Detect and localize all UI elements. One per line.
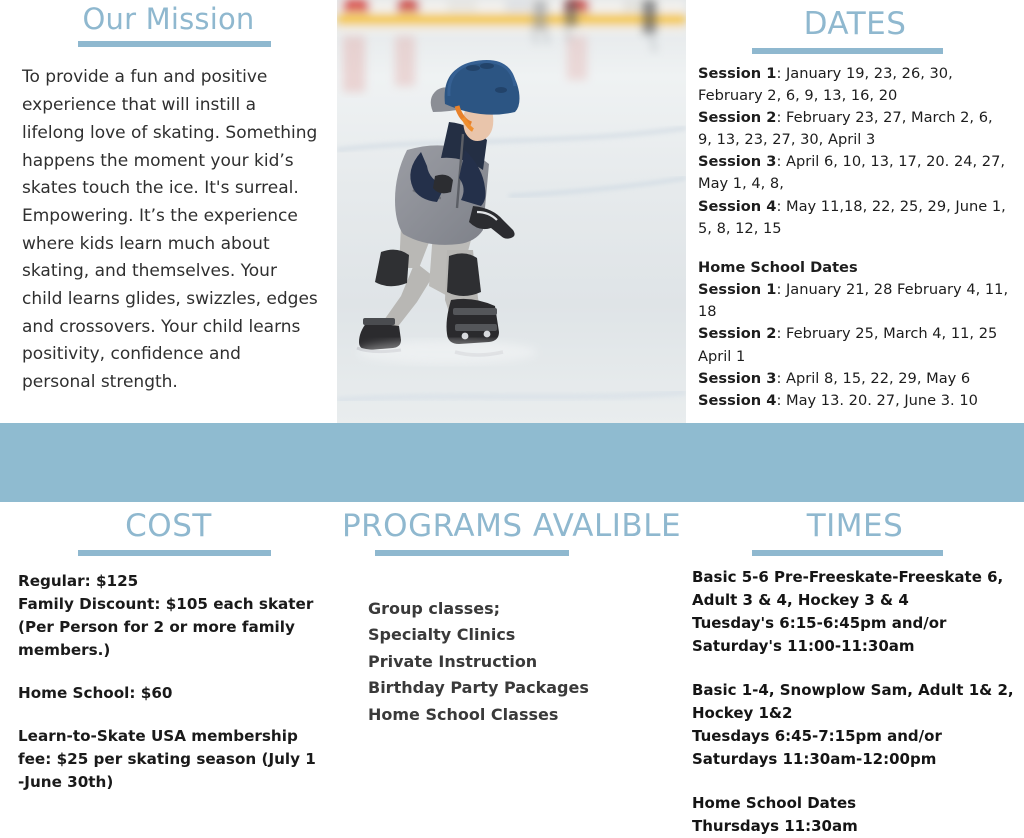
home-school-session-row: Session 1: January 21, 28 February 4, 11…	[698, 279, 1010, 323]
dates-session-row: Session 4: May 11,18, 22, 25, 29, June 1…	[698, 196, 1010, 240]
cost-body: Regular: $125 Family Discount: $105 each…	[18, 570, 325, 795]
programs-section: PROGRAMS AVALIBLE Group classes; Special…	[337, 502, 686, 791]
session-value: May 13. 20. 27, June 3. 10	[781, 392, 978, 409]
dates-session-row: Session 1: January 19, 23, 26, 30, Febru…	[698, 63, 1010, 107]
home-school-session-row: Session 4: May 13. 20. 27, June 3. 10	[698, 390, 1010, 412]
times-heading-wrap: TIMES	[686, 502, 1024, 543]
times-line: Thursdays 11:30am	[692, 815, 1018, 838]
cost-spacer	[18, 705, 325, 725]
list-item: Specialty Clinics	[368, 622, 676, 649]
times-heading-rule	[752, 550, 943, 556]
mission-body-text: To provide a fun and positive experience…	[22, 64, 319, 396]
times-line: Saturdays 11:30am-12:00pm	[692, 748, 1018, 771]
mission-heading-rule	[78, 41, 271, 47]
times-line: Basic 5-6 Pre-Freeskate-Freeskate 6, Adu…	[692, 566, 1018, 613]
cost-heading-rule	[78, 550, 271, 556]
dates-session-row: Session 3: April 6, 10, 13, 17, 20. 24, …	[698, 151, 1010, 195]
times-heading: TIMES	[686, 502, 1024, 543]
times-line: Basic 1-4, Snowplow Sam, Adult 1& 2, Hoc…	[692, 679, 1018, 726]
session-label: Session 3	[698, 370, 776, 387]
mission-heading: Our Mission	[0, 0, 337, 34]
times-line: Saturday's 11:00-11:30am	[692, 635, 1018, 658]
session-label: Session 1	[698, 65, 776, 82]
times-spacer	[692, 659, 1018, 679]
list-item: Group classes;	[368, 596, 676, 623]
skating-photo-illustration	[337, 0, 686, 423]
dates-heading-rule	[752, 48, 943, 54]
cost-line: Regular: $125	[18, 570, 325, 593]
list-item: Home School Classes	[368, 702, 676, 729]
mission-heading-wrap: Our Mission	[0, 0, 337, 34]
dates-body: Session 1: January 19, 23, 26, 30, Febru…	[692, 63, 1010, 413]
home-school-session-row: Session 2: February 25, March 4, 11, 25 …	[698, 323, 1010, 367]
session-label: Session 3	[698, 153, 776, 170]
times-spacer	[692, 772, 1018, 792]
session-label: Session 2	[698, 325, 776, 342]
times-line: Home School Dates	[692, 792, 1018, 815]
programs-heading: PROGRAMS AVALIBLE	[337, 502, 686, 543]
home-school-dates-title: Home School Dates	[698, 257, 1010, 279]
session-label: Session 4	[698, 198, 776, 215]
dates-heading-wrap: DATES	[686, 0, 1024, 41]
cost-line: Learn-to-Skate USA membership fee: $25 p…	[18, 725, 325, 771]
list-item: Private Instruction	[368, 649, 676, 676]
dates-heading: DATES	[686, 0, 1024, 41]
programs-heading-wrap: PROGRAMS AVALIBLE	[337, 502, 686, 543]
cost-line: Family Discount: $105 each skater (Per P…	[18, 593, 325, 662]
dates-session-row: Session 2: February 23, 27, March 2, 6, …	[698, 107, 1010, 151]
accent-band	[0, 423, 1024, 502]
home-school-session-row: Session 3: April 8, 15, 22, 29, May 6	[698, 368, 1010, 390]
dates-section: DATES Session 1: January 19, 23, 26, 30,…	[686, 0, 1024, 423]
times-line: Tuesdays 6:45-7:15pm and/or	[692, 725, 1018, 748]
cost-spacer	[18, 662, 325, 682]
brochure-page: Our Mission To provide a fun and positiv…	[0, 0, 1024, 791]
cost-line: Home School: $60	[18, 682, 325, 705]
skating-photo	[337, 0, 686, 423]
times-body: Basic 5-6 Pre-Freeskate-Freeskate 6, Adu…	[692, 566, 1018, 838]
session-label: Session 2	[698, 109, 776, 126]
programs-heading-rule	[375, 550, 569, 556]
cost-heading-wrap: COST	[0, 502, 337, 543]
list-item: Birthday Party Packages	[368, 675, 676, 702]
times-line: Tuesday's 6:15-6:45pm and/or	[692, 612, 1018, 635]
cost-heading: COST	[0, 502, 337, 543]
mission-section: Our Mission To provide a fun and positiv…	[0, 0, 337, 423]
cost-section: COST Regular: $125 Family Discount: $105…	[0, 502, 337, 791]
session-label: Session 4	[698, 392, 776, 409]
session-value: April 8, 15, 22, 29, May 6	[781, 370, 970, 387]
session-label: Session 1	[698, 281, 776, 298]
programs-list: Group classes; Specialty Clinics Private…	[368, 596, 676, 729]
dates-spacer	[698, 240, 1010, 257]
times-section: TIMES Basic 5-6 Pre-Freeskate-Freeskate …	[686, 502, 1024, 791]
